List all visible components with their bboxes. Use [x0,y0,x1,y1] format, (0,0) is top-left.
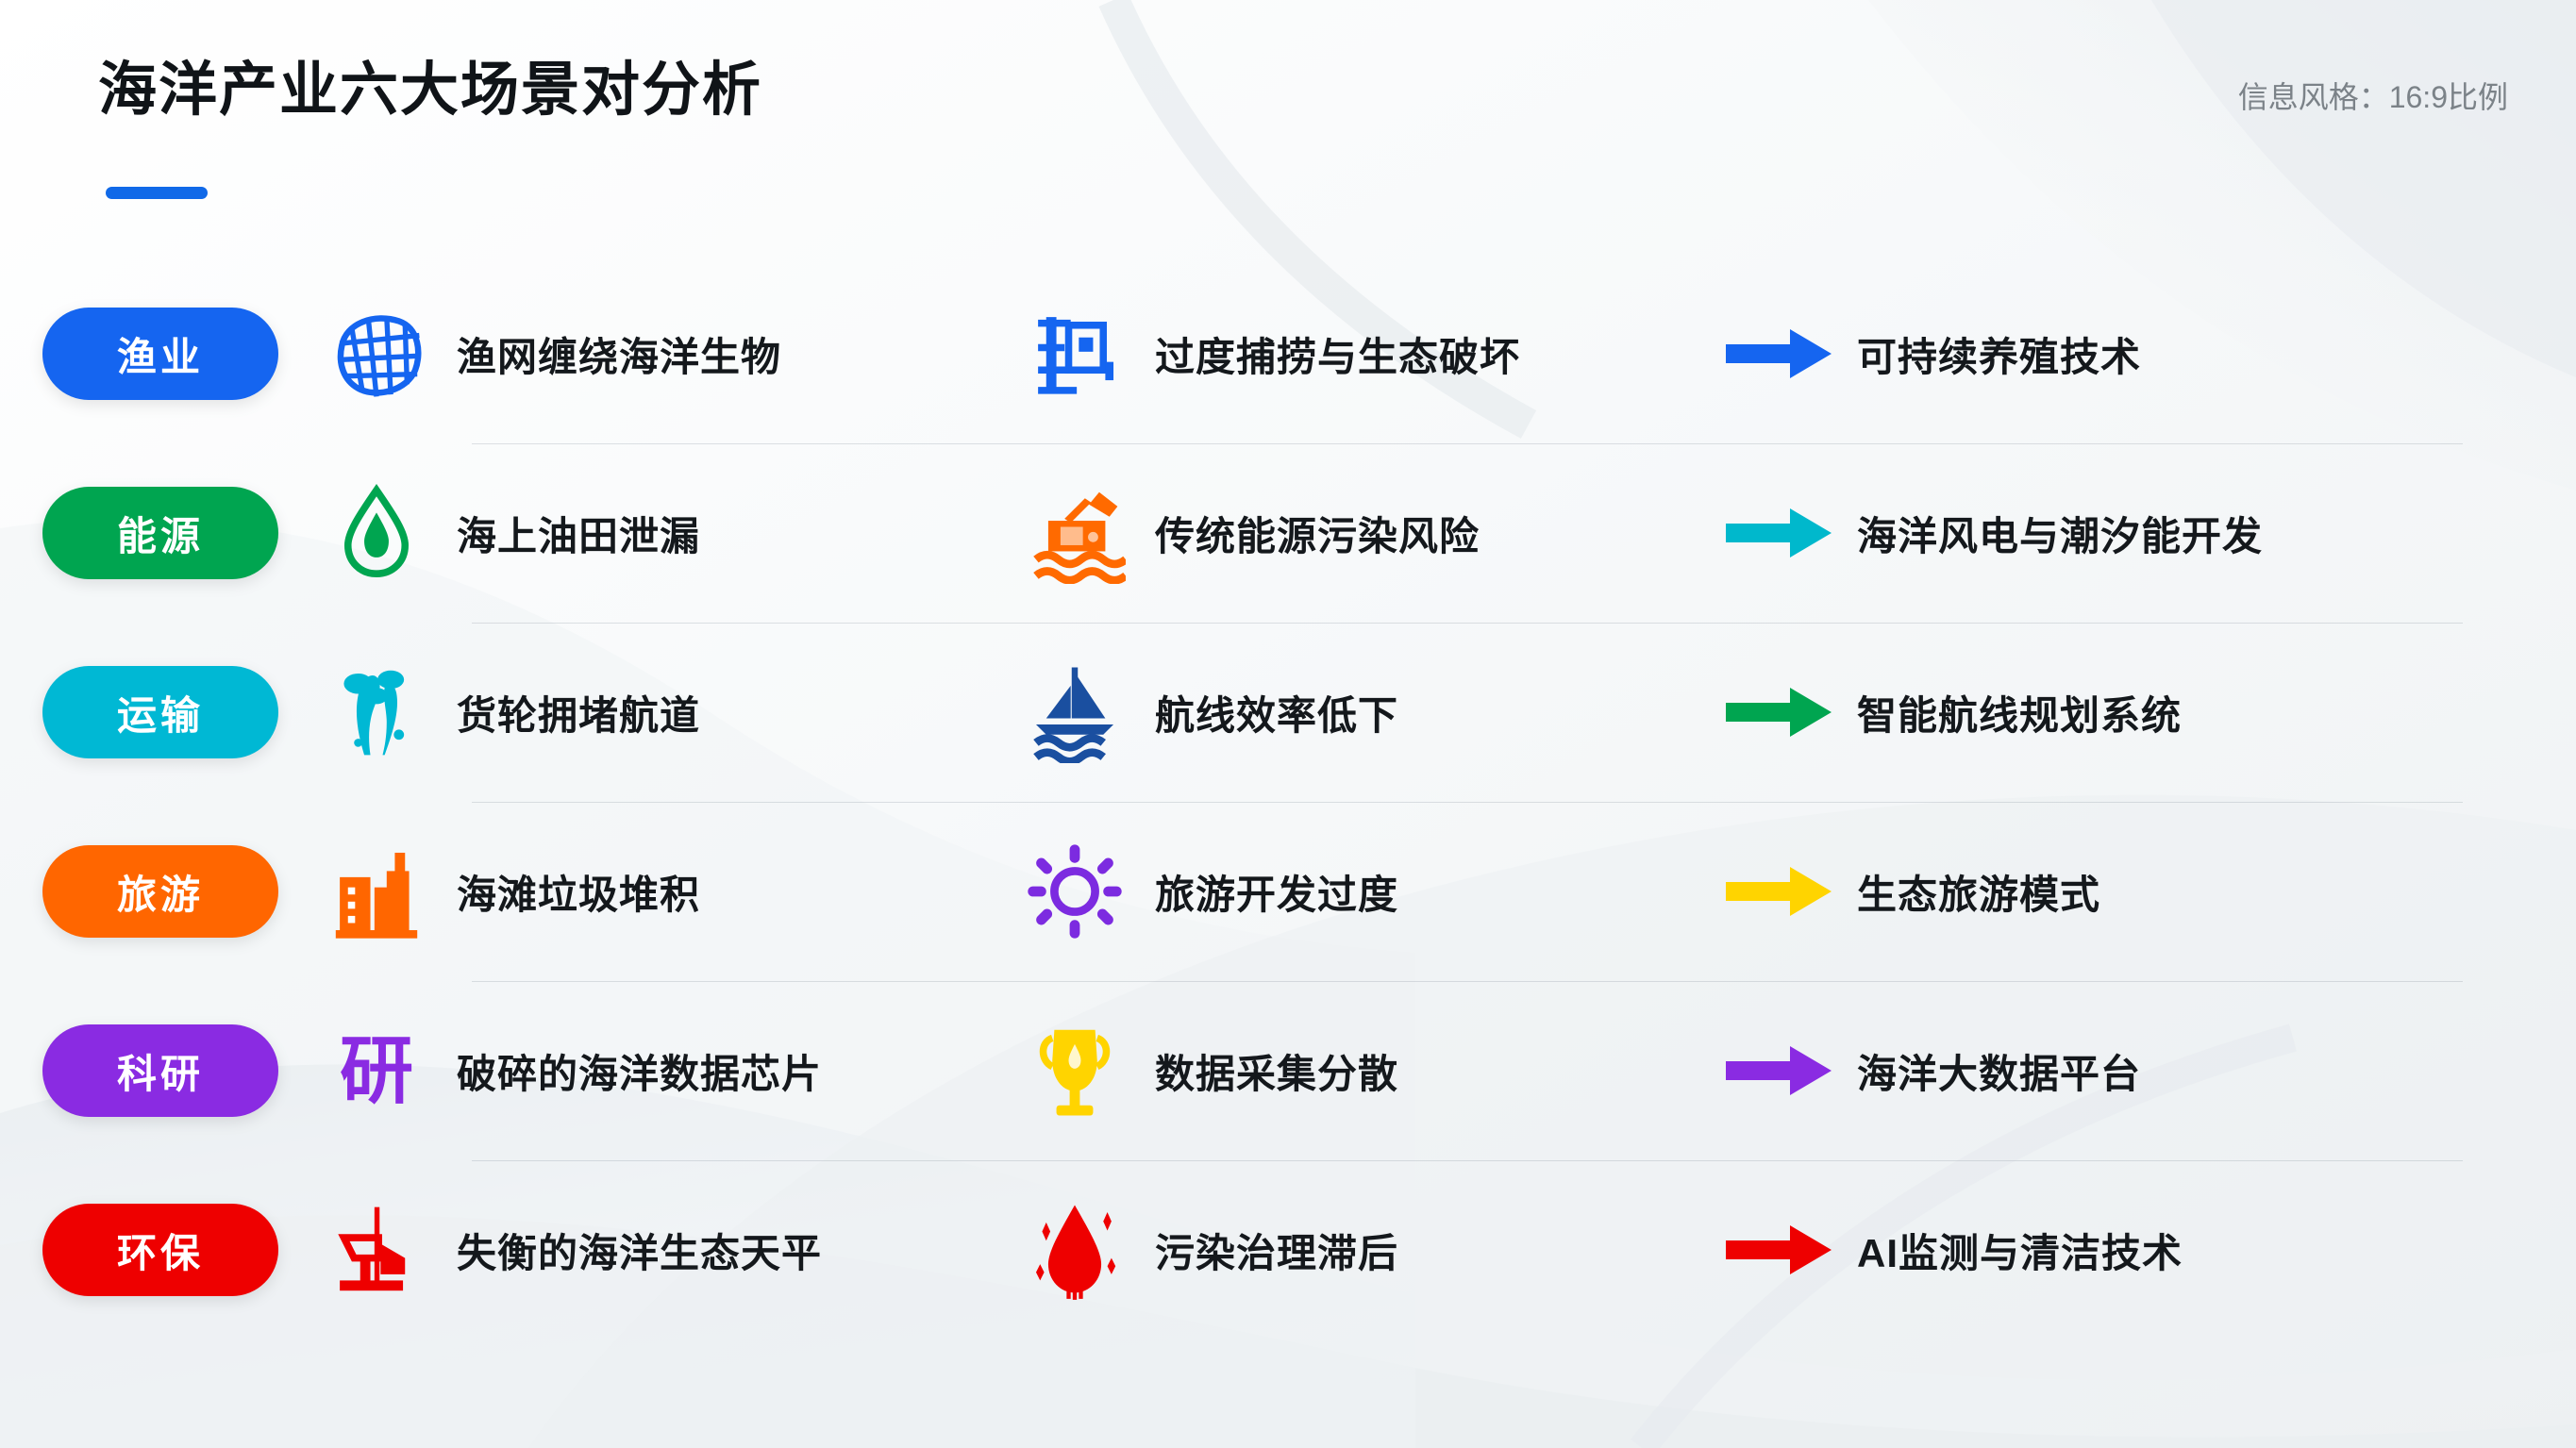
city-buildings-icon [321,841,432,942]
issue-cell: 污染治理滞后 [1019,1199,1717,1301]
arrow-right-icon [1717,684,1840,741]
category-badge-label: 渔业 [117,325,204,383]
scenario-row: 渔业渔网缠绕海洋生物过度捕捞与生态破坏可持续养殖技术 [0,264,2576,443]
category-badge[interactable]: 运输 [42,666,278,758]
issue-label: 污染治理滞后 [1155,1222,1398,1279]
fishing-net-icon [321,303,432,405]
category-cell: 运输 [0,666,321,758]
scenario-row: 旅游海滩垃圾堆积旅游开发过度生态旅游模式 [0,802,2576,981]
category-badge-label: 运输 [117,684,204,741]
solution-cell: 海洋风电与潮汐能开发 [1717,505,2576,562]
problem-cell: 海上油田泄漏 [321,482,1019,584]
ratio-note: 信息风格：16:9比例 [2238,74,2508,117]
category-badge[interactable]: 渔业 [42,308,278,400]
issue-label: 数据采集分散 [1155,1042,1398,1100]
arrow-right-icon [1717,863,1840,920]
category-cell: 能源 [0,487,321,579]
solution-cell: 智能航线规划系统 [1717,684,2576,741]
solution-label: 可持续养殖技术 [1857,325,2141,383]
arrow-right-icon [1717,1222,1840,1278]
problem-cell: 货轮拥堵航道 [321,661,1019,763]
row-divider [472,981,2463,982]
sailboat-icon [1019,661,1130,763]
page-header: 海洋产业六大场景对分析 信息风格：16:9比例 [0,0,2576,217]
scenario-row: 科研研破碎的海洋数据芯片数据采集分散海洋大数据平台 [0,981,2576,1160]
solution-cell: 可持续养殖技术 [1717,325,2576,383]
research-glyph-icon: 研 [321,1034,432,1107]
solution-cell: 海洋大数据平台 [1717,1042,2576,1100]
issue-label: 航线效率低下 [1155,684,1398,741]
solution-label: 海洋风电与潮汐能开发 [1857,505,2263,562]
scenario-row: 环保失衡的海洋生态天平污染治理滞后AI监测与清洁技术 [0,1160,2576,1340]
category-badge[interactable]: 能源 [42,487,278,579]
arrow-right-icon [1717,505,1840,561]
issue-label: 传统能源污染风险 [1155,505,1480,562]
category-badge[interactable]: 旅游 [42,845,278,938]
scenario-row: 能源海上油田泄漏传统能源污染风险海洋风电与潮汐能开发 [0,443,2576,623]
fishing-trawler-icon [1019,303,1130,405]
row-divider [472,623,2463,624]
problem-cell: 渔网缠绕海洋生物 [321,303,1019,405]
problem-label: 渔网缠绕海洋生物 [457,325,781,383]
scenario-matrix: 渔业渔网缠绕海洋生物过度捕捞与生态破坏可持续养殖技术能源海上油田泄漏传统能源污染… [0,264,2576,1340]
title-accent-underline [106,187,208,199]
category-cell: 渔业 [0,308,321,400]
scenario-row: 运输货轮拥堵航道航线效率低下智能航线规划系统 [0,623,2576,802]
problem-cell: 失衡的海洋生态天平 [321,1199,1019,1301]
problem-cell: 研破碎的海洋数据芯片 [321,1034,1019,1107]
problem-label: 破碎的海洋数据芯片 [457,1042,822,1100]
issue-cell: 过度捕捞与生态破坏 [1019,303,1717,405]
sun-icon [1019,841,1130,942]
issue-label: 过度捕捞与生态破坏 [1155,325,1520,383]
trophy-icon [1019,1020,1130,1122]
issue-label: 旅游开发过度 [1155,863,1398,921]
blood-droplet-icon [1019,1199,1130,1301]
solution-cell: AI监测与清洁技术 [1717,1222,2576,1279]
oil-rig-boat-icon [1019,482,1130,584]
row-divider [472,802,2463,803]
category-badge-label: 能源 [117,505,204,562]
problem-label: 失衡的海洋生态天平 [457,1222,822,1279]
category-badge-label: 环保 [117,1222,204,1279]
page-title: 海洋产业六大场景对分析 [98,42,762,126]
category-cell: 环保 [0,1204,321,1296]
problem-label: 货轮拥堵航道 [457,684,700,741]
category-badge-label: 科研 [117,1042,204,1100]
solution-label: AI监测与清洁技术 [1857,1222,2183,1279]
arrow-right-icon [1717,1042,1840,1099]
row-divider [472,443,2463,444]
solution-cell: 生态旅游模式 [1717,863,2576,921]
oil-droplet-icon [321,482,432,584]
category-badge-label: 旅游 [117,863,204,921]
issue-cell: 旅游开发过度 [1019,841,1717,942]
row-divider [472,1160,2463,1161]
problem-label: 海滩垃圾堆积 [457,863,700,921]
category-badge[interactable]: 环保 [42,1204,278,1296]
problem-label: 海上油田泄漏 [457,505,700,562]
balance-scale-icon [321,1199,432,1301]
problem-cell: 海滩垃圾堆积 [321,841,1019,942]
issue-cell: 航线效率低下 [1019,661,1717,763]
solution-label: 生态旅游模式 [1857,863,2100,921]
arrow-right-icon [1717,325,1840,382]
category-cell: 旅游 [0,845,321,938]
category-badge[interactable]: 科研 [42,1024,278,1117]
issue-cell: 数据采集分散 [1019,1020,1717,1122]
solution-label: 海洋大数据平台 [1857,1042,2141,1100]
issue-cell: 传统能源污染风险 [1019,482,1717,584]
solution-label: 智能航线规划系统 [1857,684,2182,741]
category-cell: 科研 [0,1024,321,1117]
seaweed-icon [321,661,432,763]
